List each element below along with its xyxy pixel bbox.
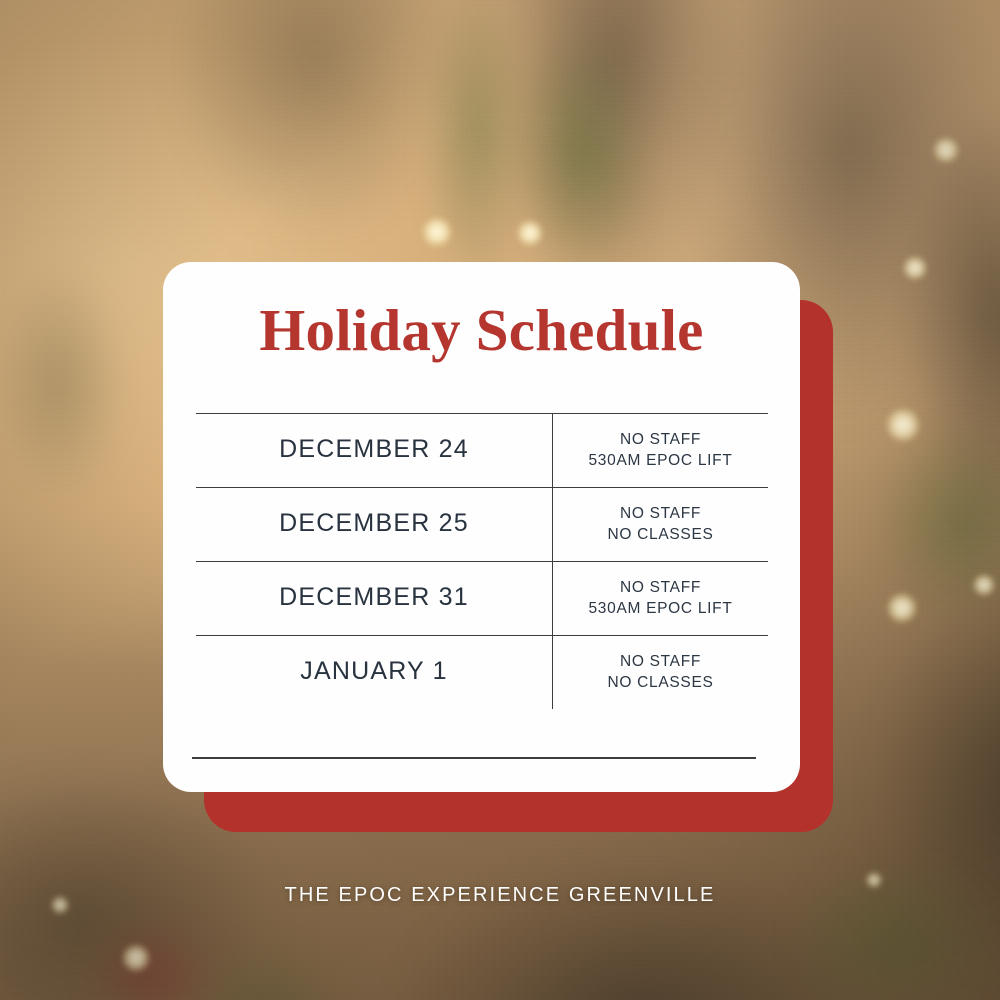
note-line-2: 530AM EPOC LIFT [588,452,732,470]
note-line-2: NO CLASSES [607,526,713,544]
note-line-1: NO STAFF [620,505,701,523]
schedule-date: JANUARY 1 [196,636,553,709]
page-title: Holiday Schedule [163,300,800,362]
schedule-note: NO STAFF NO CLASSES [553,636,768,709]
brand-footer: THE EPOC EXPERIENCE GREENVILLE [0,884,1000,907]
poster-canvas: Holiday Schedule DECEMBER 24 NO STAFF 53… [0,0,1000,1000]
table-row: DECEMBER 25 NO STAFF NO CLASSES [196,487,768,561]
note-line-2: NO CLASSES [607,674,713,692]
schedule-note: NO STAFF NO CLASSES [553,488,768,561]
note-line-2: 530AM EPOC LIFT [588,600,732,618]
schedule-date: DECEMBER 31 [196,562,553,635]
schedule-table: DECEMBER 24 NO STAFF 530AM EPOC LIFT DEC… [196,413,768,709]
table-bottom-rule [192,757,756,759]
note-line-1: NO STAFF [620,653,701,671]
schedule-note: NO STAFF 530AM EPOC LIFT [553,414,768,487]
table-row: JANUARY 1 NO STAFF NO CLASSES [196,635,768,709]
note-line-1: NO STAFF [620,431,701,449]
schedule-date: DECEMBER 24 [196,414,553,487]
table-row: DECEMBER 31 NO STAFF 530AM EPOC LIFT [196,561,768,635]
table-row: DECEMBER 24 NO STAFF 530AM EPOC LIFT [196,413,768,487]
schedule-card: Holiday Schedule DECEMBER 24 NO STAFF 53… [163,262,800,792]
schedule-note: NO STAFF 530AM EPOC LIFT [553,562,768,635]
note-line-1: NO STAFF [620,579,701,597]
schedule-date: DECEMBER 25 [196,488,553,561]
